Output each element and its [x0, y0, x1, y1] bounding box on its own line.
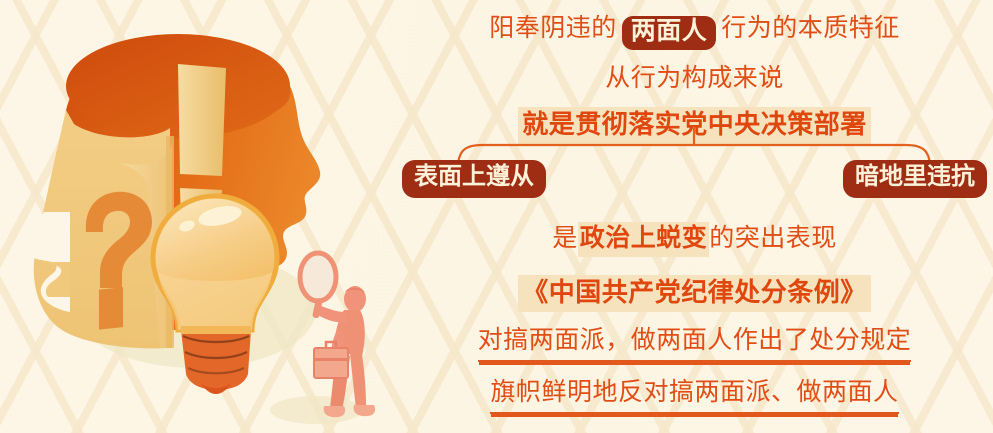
headline-line-4: 是政治上蜕变的突出表现 [396, 218, 993, 254]
line4-suffix: 的突出表现 [709, 225, 837, 252]
split-head-lightbulb-illustration [0, 0, 400, 433]
head-rim-ellipse [66, 34, 290, 138]
headline-line-6: 对搞两面派，做两面人作出了处分规定 [396, 320, 993, 362]
line4-emphasis: 政治上蜕变 [578, 222, 710, 257]
line5-highlight-regulation-title: 《中国共产党纪律处分条例》 [518, 275, 871, 312]
line7-underlined: 旗帜鲜明地反对搞两面派、做两面人 [490, 372, 898, 414]
poster-canvas: 阳奉阴违的两面人行为的本质特征 从行为构成来说 就是贯彻落实党中央决策部署 表面… [0, 0, 993, 433]
badge-two-faced-person: 两面人 [622, 16, 717, 50]
person-with-magnifier-icon [300, 253, 375, 417]
line1-prefix: 阳奉阴违的 [489, 15, 617, 42]
briefcase-icon [314, 342, 348, 378]
branch-row: 表面上遵从 暗地里违抗 [396, 160, 993, 204]
headline-line-7: 旗帜鲜明地反对搞两面派、做两面人 [396, 372, 993, 414]
text-column: 阳奉阴违的两面人行为的本质特征 从行为构成来说 就是贯彻落实党中央决策部署 表面… [396, 0, 993, 433]
person-shadow [270, 396, 362, 424]
line1-suffix: 行为的本质特征 [721, 15, 900, 42]
headline-line-5: 《中国共产党纪律处分条例》 [396, 272, 993, 309]
headline-line-2: 从行为构成来说 [396, 58, 993, 94]
pill-secret-defiance: 暗地里违抗 [843, 160, 987, 198]
line4-prefix: 是 [552, 225, 578, 252]
pill-surface-compliance: 表面上遵从 [402, 160, 546, 198]
line6-underlined: 对搞两面派，做两面人作出了处分规定 [478, 320, 912, 362]
headline-line-1: 阳奉阴违的两面人行为的本质特征 [396, 8, 993, 50]
